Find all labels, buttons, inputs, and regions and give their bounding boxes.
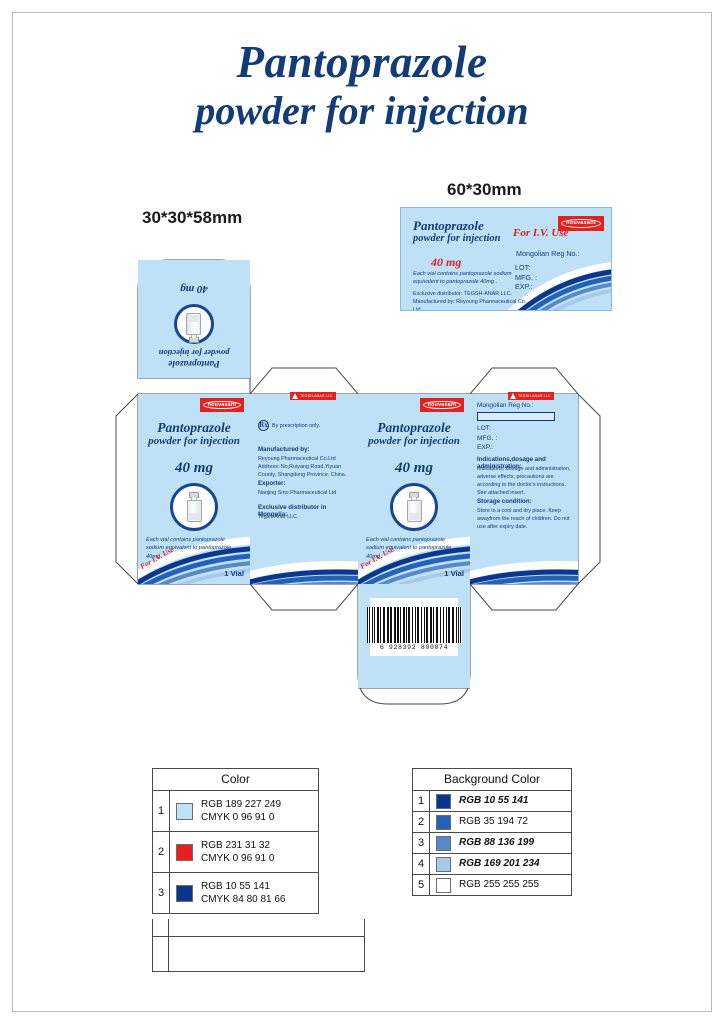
front-panel-a-strength: 40 mg xyxy=(138,460,250,477)
rgb-value: RGB 231 31 32 xyxy=(201,839,274,853)
barcode-digits: 6 928392 800074 xyxy=(380,644,448,651)
vial-body-icon xyxy=(187,313,202,335)
top-flap-product-name: Pantoprazole powder for injection xyxy=(138,348,250,368)
color-swatch xyxy=(176,844,193,861)
table-row: 1RGB 10 55 141 xyxy=(413,791,571,812)
vial-body-icon xyxy=(407,500,422,522)
row-body: RGB 88 136 199 xyxy=(430,833,571,853)
barcode-bar xyxy=(461,607,462,643)
label-contains-text: Each vial contains pantoprazole sodium e… xyxy=(413,270,523,286)
warning-tag-b-text: TEGSH-ANAR LLC xyxy=(518,394,551,398)
row-body: RGB 189 227 249CMYK 0 96 91 0 xyxy=(170,791,318,831)
color-swatch xyxy=(436,857,451,872)
color-swatch xyxy=(436,794,451,809)
front-panel-b-name-line2: powder for injection xyxy=(358,435,470,447)
indications-mfg: MFG. : xyxy=(477,434,575,444)
label-strength: 40 mg xyxy=(431,255,461,270)
color-table-header: Color xyxy=(153,769,318,791)
distributor-value: Tegsh-Anar LLC. xyxy=(258,513,354,521)
color-values: RGB 255 255 255 xyxy=(459,878,539,892)
row-index: 1 xyxy=(413,791,430,811)
color-swatch xyxy=(176,885,193,902)
warning-triangle-icon xyxy=(510,393,516,399)
color-table: Color 1RGB 189 227 249CMYK 0 96 91 02RGB… xyxy=(152,768,319,914)
rgb-value: RGB 255 255 255 xyxy=(459,878,539,892)
row-index: 3 xyxy=(153,873,170,913)
table-row: 3RGB 10 55 141CMYK 84 80 81 66 xyxy=(153,873,318,913)
indications-value: Indications, dosage and administration, … xyxy=(477,465,575,497)
row-body: RGB 169 201 234 xyxy=(430,854,571,874)
vial-icon xyxy=(187,313,202,343)
top-flap-vial-icon xyxy=(174,304,214,344)
label-exp: EXP.: xyxy=(515,282,537,292)
indications-reg-no: Mongolian Reg No.: xyxy=(477,402,575,409)
brand-logo: nouvasant xyxy=(420,398,464,412)
exporter-value: Nanjing Sino Pharmaceutical Ltd xyxy=(258,489,354,497)
background-color-table: Background Color 1RGB 10 55 1412RGB 35 1… xyxy=(412,768,572,896)
front-panel-b-vial-count: 1 Vial xyxy=(358,569,464,578)
row-index: 3 xyxy=(413,833,430,853)
label-distributor-text: Exclusive distributor: TEGSH-ANAR LLC. M… xyxy=(413,290,533,311)
top-flap-strength: 40 mg xyxy=(138,283,250,295)
front-panel-b-product-name: Pantoprazole powder for injection xyxy=(358,420,470,447)
vial-fill-icon xyxy=(187,315,200,322)
row-index: 1 xyxy=(153,791,170,831)
warning-tag-b: TEGSH-ANAR LLC xyxy=(508,392,554,400)
rgb-value: RGB 10 55 141 xyxy=(459,794,529,808)
top-flap-name-line2: powder for injection xyxy=(138,348,250,358)
vial-icon xyxy=(407,492,422,522)
page-title-line2: powder for injection xyxy=(0,91,724,131)
table-row: 2RGB 35 194 72 xyxy=(413,812,571,833)
color-swatch xyxy=(436,815,451,830)
label-lot: LOT: xyxy=(515,263,537,273)
row-index: 5 xyxy=(413,875,430,895)
row-index: 2 xyxy=(413,812,430,832)
label-dimension-caption: 60*30mm xyxy=(447,180,522,200)
cmyk-value: CMYK 0 96 91 0 xyxy=(201,852,274,866)
color-values: RGB 10 55 141CMYK 84 80 81 66 xyxy=(201,880,286,907)
color-table-footer-divider xyxy=(168,919,169,972)
color-table-footer-row-1 xyxy=(152,919,365,937)
color-values: RGB 10 55 141 xyxy=(459,794,529,808)
front-panel-b-vial-icon xyxy=(390,483,438,531)
rgb-value: RGB 10 55 141 xyxy=(201,880,286,894)
row-body: RGB 10 55 141CMYK 84 80 81 66 xyxy=(170,873,318,913)
front-panel-b-strength: 40 mg xyxy=(358,460,470,477)
page-title: Pantoprazole powder for injection xyxy=(0,40,724,131)
row-body: RGB 255 255 255 xyxy=(430,875,571,895)
exporter-label: Exporter: xyxy=(258,480,354,487)
color-table-footer-row-2 xyxy=(152,937,365,972)
barcode-bars xyxy=(367,607,462,643)
label-lot-block: LOT: MFG. : EXP.: xyxy=(515,263,537,292)
warning-tag-a: TEGSH-ANAR LLC xyxy=(290,392,336,400)
vial-fill-icon xyxy=(409,513,422,520)
front-panel-a-name-line2: powder for injection xyxy=(138,435,250,447)
label-product-name: Pantoprazole powder for injection xyxy=(413,219,501,244)
table-row: 1RGB 189 227 249CMYK 0 96 91 0 xyxy=(153,791,318,832)
carton-dieline: Pantoprazole powder for injection 40 mg xyxy=(130,246,590,726)
side-panel-indications: Mongolian Reg No.: LOT: MFG. : EXP.: Ind… xyxy=(470,394,578,584)
side-panel-manufacturer: Rx By prescription only. Manufactured by… xyxy=(250,394,358,584)
rx-icon: Rx xyxy=(258,420,269,431)
indications-lot-block: LOT: MFG. : EXP.: xyxy=(477,424,575,453)
barcode: 6 928392 800074 xyxy=(370,598,458,656)
vial-icon xyxy=(187,492,202,522)
brand-logo-text: nouvasant xyxy=(423,401,462,410)
manufactured-by-value: Reyoung Pharmaceutical Co.Ltd Address: N… xyxy=(258,455,354,479)
color-table-rows: 1RGB 189 227 249CMYK 0 96 91 02RGB 231 3… xyxy=(153,791,318,913)
brand-logo-text: nouvasant xyxy=(203,401,242,410)
color-swatch xyxy=(176,803,193,820)
front-panel-a-vial-icon xyxy=(170,483,218,531)
row-body: RGB 231 31 32CMYK 0 96 91 0 xyxy=(170,832,318,872)
front-panel-a: nouvasant Pantoprazole powder for inject… xyxy=(138,394,250,584)
cmyk-value: CMYK 84 80 81 66 xyxy=(201,893,286,907)
color-values: RGB 231 31 32CMYK 0 96 91 0 xyxy=(201,839,274,866)
background-color-table-header: Background Color xyxy=(413,769,571,791)
row-body: RGB 10 55 141 xyxy=(430,791,571,811)
vial-body-icon xyxy=(187,500,202,522)
color-values: RGB 169 201 234 xyxy=(459,857,540,871)
table-row: 3RGB 88 136 199 xyxy=(413,833,571,854)
rgb-value: RGB 88 136 199 xyxy=(459,836,534,850)
top-flap-name-line1: Pantoprazole xyxy=(138,357,250,368)
warning-tag-a-text: TEGSH-ANAR LLC xyxy=(300,394,333,398)
table-row: 2RGB 231 31 32CMYK 0 96 91 0 xyxy=(153,832,318,873)
barcode-flap-panel: 6 928392 800074 xyxy=(358,584,470,688)
indications-exp: EXP.: xyxy=(477,443,575,453)
label-mfg: MFG. : xyxy=(515,273,537,283)
front-panel-a-product-name: Pantoprazole powder for injection xyxy=(138,420,250,447)
rgb-value: RGB 189 227 249 xyxy=(201,798,281,812)
rgb-value: RGB 169 201 234 xyxy=(459,857,540,871)
top-flap-panel: Pantoprazole powder for injection 40 mg xyxy=(138,260,250,378)
storage-value: Store in a cool and dry place. Keep away… xyxy=(477,507,575,531)
front-panel-b-name-line1: Pantoprazole xyxy=(358,420,470,435)
front-panel-a-vial-count: 1 Vial xyxy=(138,569,244,578)
table-row: 5RGB 255 255 255 xyxy=(413,875,571,895)
manufactured-by-label: Manufactured by: xyxy=(258,446,354,453)
rx-prescription-row: Rx By prescription only. xyxy=(258,420,354,431)
cmyk-value: CMYK 0 96 91 0 xyxy=(201,811,281,825)
front-panel-a-name-line1: Pantoprazole xyxy=(138,420,250,435)
color-values: RGB 88 136 199 xyxy=(459,836,534,850)
vial-fill-icon xyxy=(189,513,202,520)
page-title-line1: Pantoprazole xyxy=(0,40,724,85)
indications-lot: LOT: xyxy=(477,424,575,434)
row-index: 4 xyxy=(413,854,430,874)
label-product-name-line2: powder for injection xyxy=(413,233,501,244)
rx-prescription-text: By prescription only. xyxy=(272,423,320,429)
storage-label: Storage condition: xyxy=(477,498,575,505)
label-product-name-line1: Pantoprazole xyxy=(413,219,501,233)
rgb-value: RGB 35 194 72 xyxy=(459,815,528,829)
background-color-table-rows: 1RGB 10 55 1412RGB 35 194 723RGB 88 136 … xyxy=(413,791,571,895)
color-swatch xyxy=(436,878,451,893)
color-swatch xyxy=(436,836,451,851)
row-index: 2 xyxy=(153,832,170,872)
front-panel-b: nouvasant Pantoprazole powder for inject… xyxy=(358,394,470,584)
reg-no-input[interactable] xyxy=(477,412,555,421)
row-body: RGB 35 194 72 xyxy=(430,812,571,832)
brand-logo: nouvasant xyxy=(200,398,244,412)
color-values: RGB 35 194 72 xyxy=(459,815,528,829)
brand-logo-text: nouvasant xyxy=(561,219,601,228)
warning-triangle-icon xyxy=(292,393,298,399)
table-row: 4RGB 169 201 234 xyxy=(413,854,571,875)
brand-logo: nouvasant xyxy=(558,216,604,231)
box-dimension-caption: 30*30*58mm xyxy=(142,208,242,228)
label-reg-no: Mongolian Reg No.: xyxy=(516,249,580,258)
color-values: RGB 189 227 249CMYK 0 96 91 0 xyxy=(201,798,281,825)
